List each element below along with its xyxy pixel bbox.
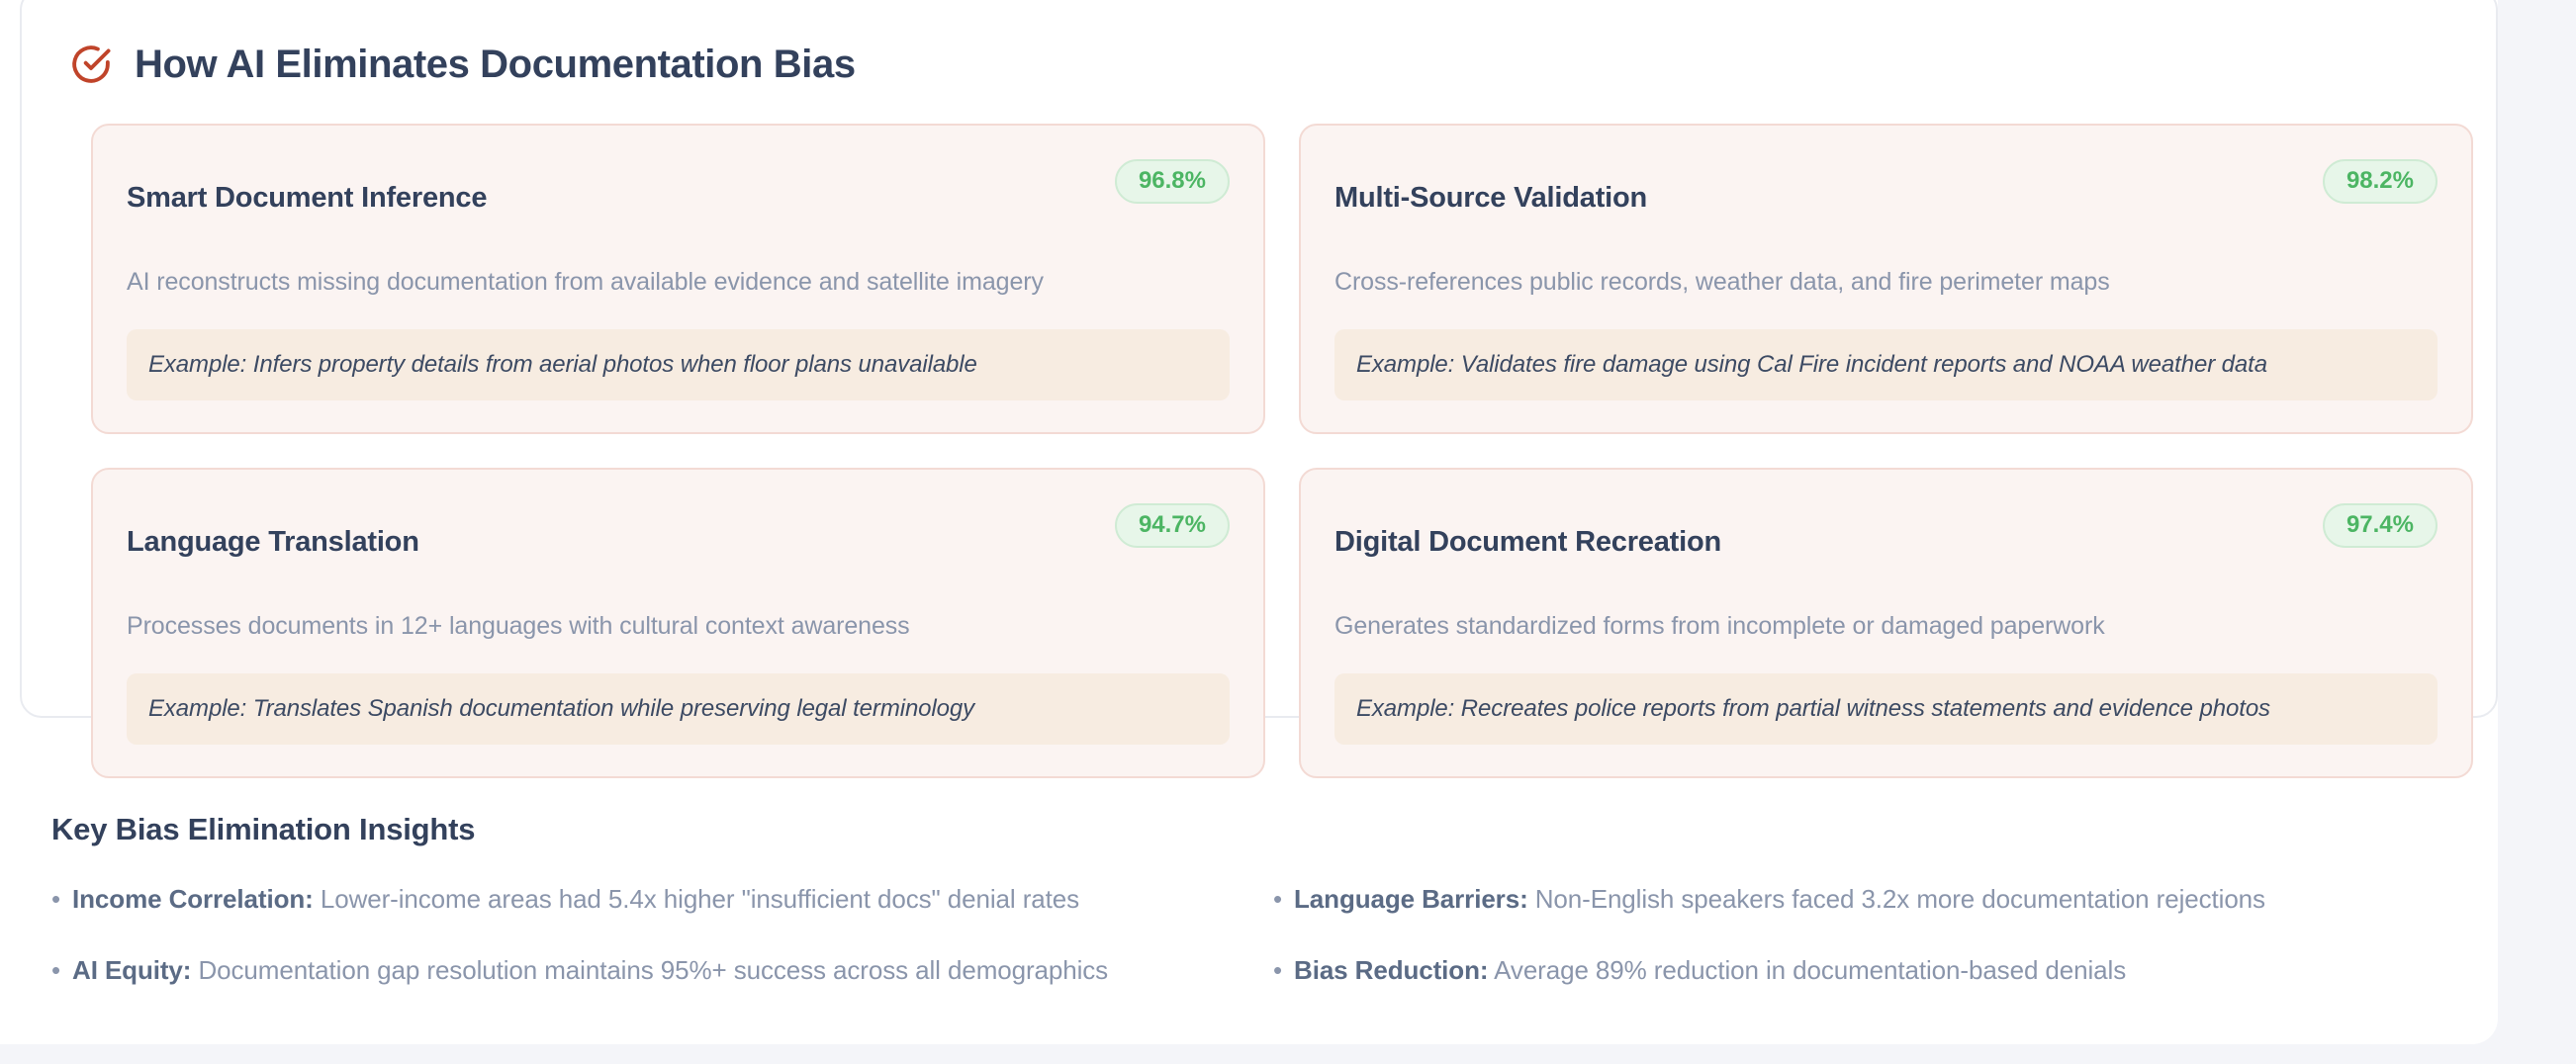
card-example: Example: Recreates police reports from p… <box>1334 673 2438 745</box>
feature-card-language-translation[interactable]: Language Translation 94.7% Processes doc… <box>91 468 1265 778</box>
key-insights-section: Key Bias Elimination Insights • Income C… <box>51 786 2445 987</box>
card-header: Digital Document Recreation 97.4% <box>1334 503 2438 582</box>
insight-text: Lower-income areas had 5.4x higher "insu… <box>321 884 1079 914</box>
insight-item-income-correlation: • Income Correlation: Lower-income areas… <box>51 883 1224 916</box>
panel-header: How AI Eliminates Documentation Bias <box>69 16 856 114</box>
card-title: Digital Document Recreation <box>1334 527 1721 559</box>
insight-item-ai-equity: • AI Equity: Documentation gap resolutio… <box>51 954 1224 987</box>
insight-item-language-barriers: • Language Barriers: Non-English speaker… <box>1273 883 2445 916</box>
insight-item-bias-reduction: • Bias Reduction: Average 89% reduction … <box>1273 954 2445 987</box>
insight-label: Language Barriers: <box>1294 884 1528 914</box>
card-description: Processes documents in 12+ languages wit… <box>127 610 1230 644</box>
card-description: Cross-references public records, weather… <box>1334 266 2438 300</box>
card-title: Smart Document Inference <box>127 183 487 215</box>
circle-check-icon <box>69 43 113 86</box>
insight-text: Average 89% reduction in documentation-b… <box>1494 955 2126 985</box>
bullet-icon: • <box>1273 886 1282 912</box>
insights-title: Key Bias Elimination Insights <box>51 812 2445 847</box>
insight-text: Documentation gap resolution maintains 9… <box>198 955 1108 985</box>
status-badge: 97.4% <box>2323 503 2438 548</box>
card-header: Smart Document Inference 96.8% <box>127 159 1230 238</box>
page-title: How AI Eliminates Documentation Bias <box>135 43 856 87</box>
insights-grid: • Income Correlation: Lower-income areas… <box>51 883 2445 987</box>
card-example: Example: Infers property details from ae… <box>127 329 1230 400</box>
feature-card-smart-document-inference[interactable]: Smart Document Inference 96.8% AI recons… <box>91 124 1265 434</box>
insight-label: Bias Reduction: <box>1294 955 1488 985</box>
card-header: Multi-Source Validation 98.2% <box>1334 159 2438 238</box>
bullet-icon: • <box>51 957 60 983</box>
insight-label: Income Correlation: <box>72 884 314 914</box>
feature-cards-grid: Smart Document Inference 96.8% AI recons… <box>91 124 2473 778</box>
insight-label: AI Equity: <box>72 955 191 985</box>
card-description: AI reconstructs missing documentation fr… <box>127 266 1230 300</box>
card-title: Multi-Source Validation <box>1334 183 1647 215</box>
status-badge: 98.2% <box>2323 159 2438 204</box>
documentation-bias-panel: How AI Eliminates Documentation Bias Sma… <box>20 0 2498 718</box>
page-card: How AI Eliminates Documentation Bias Sma… <box>0 0 2498 1044</box>
card-description: Generates standardized forms from incomp… <box>1334 610 2438 644</box>
card-title: Language Translation <box>127 527 419 559</box>
status-badge: 96.8% <box>1115 159 1230 204</box>
status-badge: 94.7% <box>1115 503 1230 548</box>
insight-text: Non-English speakers faced 3.2x more doc… <box>1535 884 2265 914</box>
feature-card-multi-source-validation[interactable]: Multi-Source Validation 98.2% Cross-refe… <box>1299 124 2473 434</box>
card-example: Example: Validates fire damage using Cal… <box>1334 329 2438 400</box>
card-example: Example: Translates Spanish documentatio… <box>127 673 1230 745</box>
bullet-icon: • <box>1273 957 1282 983</box>
feature-card-digital-document-recreation[interactable]: Digital Document Recreation 97.4% Genera… <box>1299 468 2473 778</box>
bullet-icon: • <box>51 886 60 912</box>
card-header: Language Translation 94.7% <box>127 503 1230 582</box>
